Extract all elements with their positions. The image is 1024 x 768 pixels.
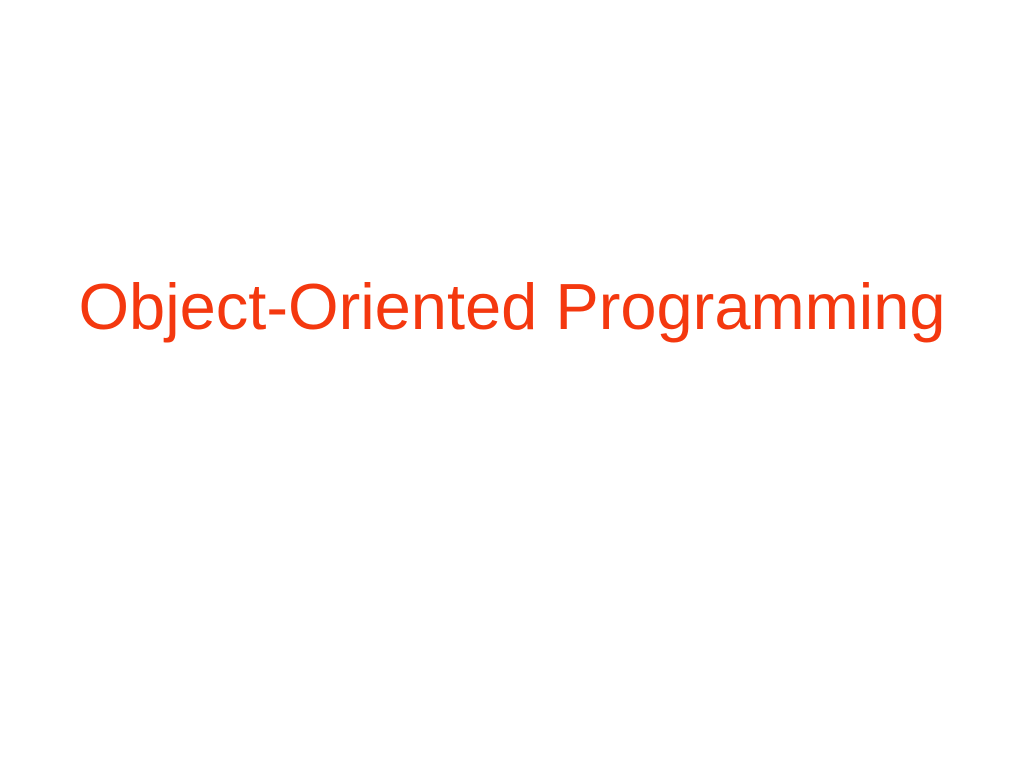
page-title: Object-Oriented Programming [79,268,946,346]
slide-canvas: Object-Oriented Programming [0,0,1024,768]
slide-title-placeholder[interactable]: Object-Oriented Programming [76,268,948,378]
